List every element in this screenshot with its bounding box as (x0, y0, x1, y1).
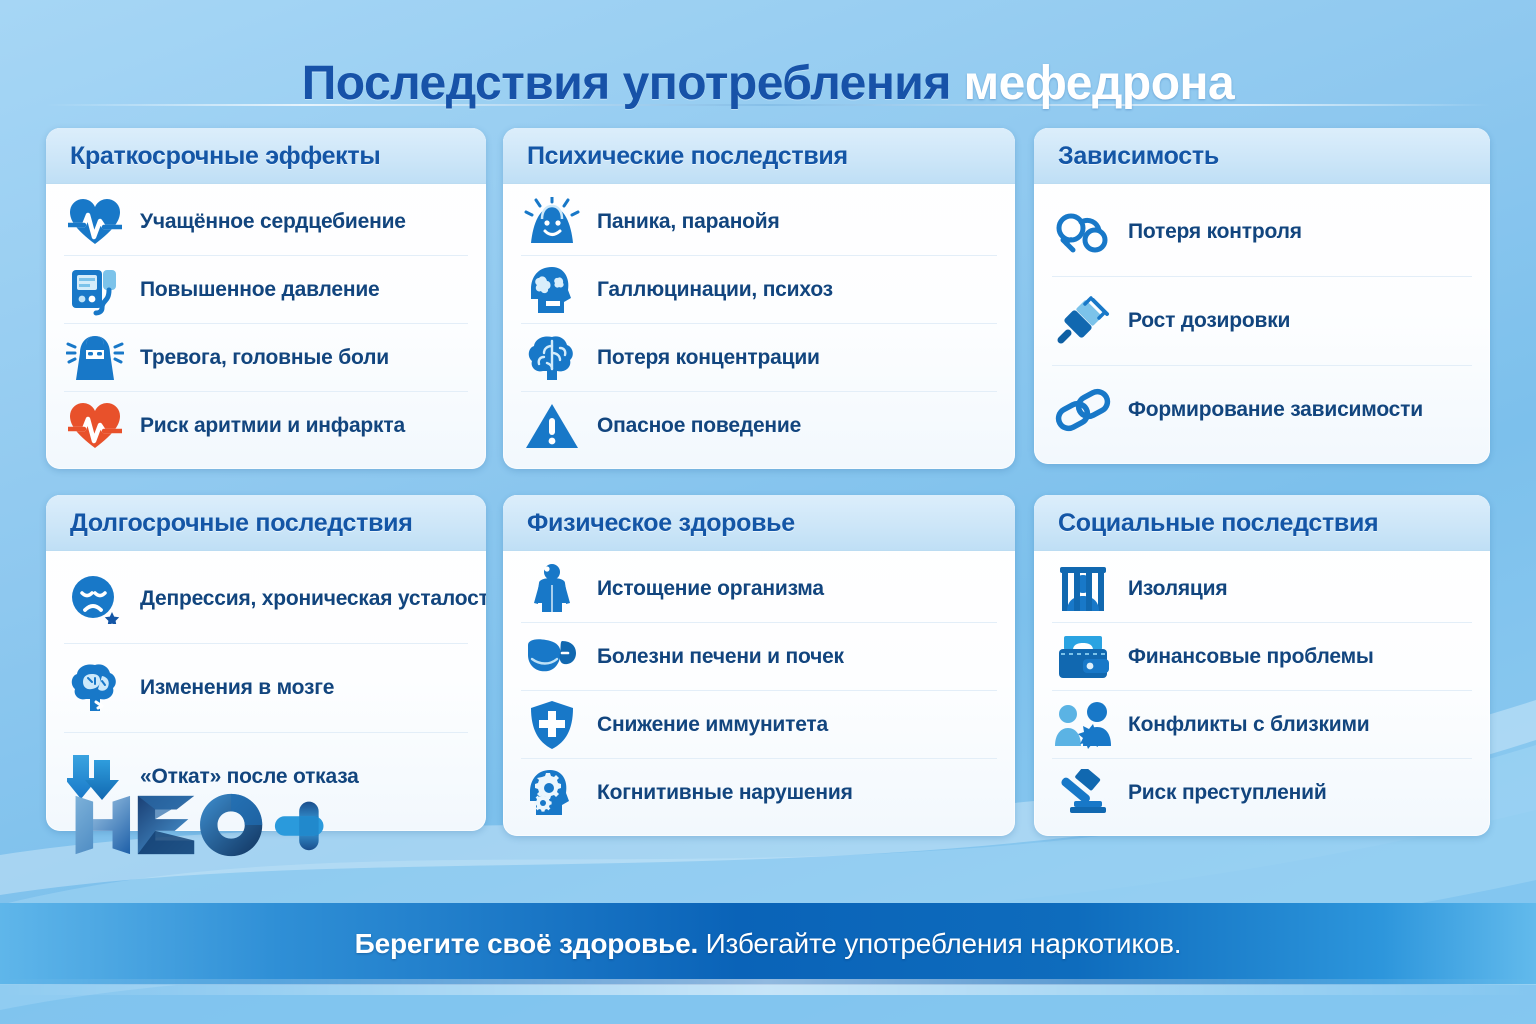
head-hallucination-icon (521, 259, 583, 321)
list-item[interactable]: Когнитивные нарушения (521, 759, 997, 826)
list-item-label: Рост дозировки (1128, 309, 1290, 333)
card-title: Социальные последствия (1058, 509, 1466, 538)
list-item-label: Конфликты с близкими (1128, 713, 1370, 737)
heart-pulse-icon (64, 191, 126, 253)
card-physical-health: Физическое здоровье Истощение организма (503, 495, 1015, 836)
page-title-part2: мефедрона (964, 57, 1235, 110)
list-item-label: Риск преступлений (1128, 781, 1327, 805)
card-body: Депрессия, хроническая усталость Изменен… (46, 551, 486, 831)
card-title: Зависимость (1058, 142, 1466, 171)
card-header: Физическое здоровье (503, 495, 1015, 551)
wallet-icon (1052, 626, 1114, 688)
list-item[interactable]: Конфликты с близкими (1052, 691, 1472, 759)
list-item[interactable]: Риск преступлений (1052, 759, 1472, 826)
prison-person-icon (1052, 558, 1114, 620)
list-item-label: Когнитивные нарушения (597, 781, 853, 805)
list-item[interactable]: Истощение организма (521, 555, 997, 623)
list-item[interactable]: Формирование зависимости (1052, 366, 1472, 454)
head-gears-icon (521, 762, 583, 824)
shield-cross-icon (521, 694, 583, 756)
list-item-label: Изменения в мозге (140, 676, 334, 700)
list-item-label: Истощение организма (597, 577, 824, 601)
liver-kidney-icon (521, 626, 583, 688)
list-item-label: Формирование зависимости (1128, 398, 1423, 422)
card-mental-consequences: Психические последствия Паника, паранойя (503, 128, 1015, 469)
card-title: Краткосрочные эффекты (70, 142, 462, 171)
list-item[interactable]: Болезни печени и почек (521, 623, 997, 691)
list-item-label: Депрессия, хроническая усталость (140, 587, 486, 611)
list-item[interactable]: Потеря контроля (1052, 188, 1472, 277)
list-item[interactable]: Повышенное давление (64, 256, 468, 324)
list-item-label: Изоляция (1128, 577, 1227, 601)
list-item[interactable]: Опасное поведение (521, 392, 997, 459)
headache-person-icon (64, 327, 126, 389)
list-item[interactable]: Рост дозировки (1052, 277, 1472, 366)
list-item[interactable]: Депрессия, хроническая усталость (64, 555, 468, 644)
list-item[interactable]: Риск аритмии и инфаркта (64, 392, 468, 459)
list-item-label: Потеря концентрации (597, 346, 820, 370)
list-item-label: Тревога, головные боли (140, 346, 389, 370)
chain-link-icon (1052, 379, 1114, 441)
footer-message-bold: Берегите своё здоровье. (355, 928, 698, 959)
card-header: Краткосрочные эффекты (46, 128, 486, 184)
list-item-label: Повышенное давление (140, 278, 380, 302)
list-item-label: Болезни печени и почек (597, 645, 844, 669)
card-body: Паника, паранойя Галлюцинации, психоз (503, 184, 1015, 469)
gavel-icon (1052, 762, 1114, 824)
syringe-icon (1052, 290, 1114, 352)
handcuffs-icon (1052, 201, 1114, 263)
page-title-part1: Последствия употребления (302, 57, 951, 110)
list-item[interactable]: Тревога, головные боли (64, 324, 468, 392)
panic-face-icon (521, 191, 583, 253)
sad-face-icon (64, 568, 126, 630)
list-item-label: Галлюцинации, психоз (597, 278, 833, 302)
list-item-label: Паника, паранойя (597, 210, 780, 234)
list-item-label: Опасное поведение (597, 414, 801, 438)
card-title: Долгосрочные последствия (70, 509, 462, 538)
list-item[interactable]: Потеря концентрации (521, 324, 997, 392)
card-title: Физическое здоровье (527, 509, 991, 538)
thin-person-icon (521, 558, 583, 620)
page-title: Последствия употребления мефедрона (0, 56, 1536, 111)
card-body: Учащённое сердцебиение Повышенное давлен… (46, 184, 486, 469)
list-item-label: «Откат» после отказа (140, 765, 359, 789)
card-header: Психические последствия (503, 128, 1015, 184)
list-item[interactable]: Финансовые проблемы (1052, 623, 1472, 691)
footer-message: Берегите своё здоровье. Избегайте употре… (355, 928, 1182, 960)
list-item-label: Финансовые проблемы (1128, 645, 1374, 669)
conflict-people-icon (1052, 694, 1114, 756)
list-item[interactable]: Паника, паранойя (521, 188, 997, 256)
list-item[interactable]: Изоляция (1052, 555, 1472, 623)
list-item-label: Снижение иммунитета (597, 713, 828, 737)
card-social-consequences: Социальные последствия Изоляция (1034, 495, 1490, 836)
list-item[interactable]: Снижение иммунитета (521, 691, 997, 759)
card-body: Потеря контроля Рост дозировки (1034, 184, 1490, 464)
list-item-label: Риск аритмии и инфаркта (140, 414, 405, 438)
card-title: Психические последствия (527, 142, 991, 171)
card-header: Долгосрочные последствия (46, 495, 486, 551)
list-item[interactable]: Учащённое сердцебиение (64, 188, 468, 256)
footer-message-regular: Избегайте употребления наркотиков. (706, 928, 1182, 959)
list-item-label: Учащённое сердцебиение (140, 210, 406, 234)
logo-neo-plus (66, 790, 336, 860)
card-header: Зависимость (1034, 128, 1490, 184)
card-body: Изоляция Финансовые проблемы (1034, 551, 1490, 836)
card-long-term-consequences: Долгосрочные последствия Депрессия, хрон… (46, 495, 486, 831)
card-dependence: Зависимость Потеря контроля (1034, 128, 1490, 464)
card-body: Истощение организма Болезни печени и поч… (503, 551, 1015, 836)
heart-attack-icon (64, 395, 126, 457)
footer-sheen (0, 979, 1536, 995)
card-header: Социальные последствия (1034, 495, 1490, 551)
list-item-label: Потеря контроля (1128, 220, 1302, 244)
blood-pressure-monitor-icon (64, 259, 126, 321)
brain-icon (521, 327, 583, 389)
brain-change-icon (64, 657, 126, 719)
list-item[interactable]: Галлюцинации, психоз (521, 256, 997, 324)
list-item[interactable]: Изменения в мозге (64, 644, 468, 733)
footer-banner: Берегите своё здоровье. Избегайте употре… (0, 903, 1536, 985)
warning-triangle-icon (521, 395, 583, 457)
card-short-term-effects: Краткосрочные эффекты Учащённое сердцеби… (46, 128, 486, 469)
